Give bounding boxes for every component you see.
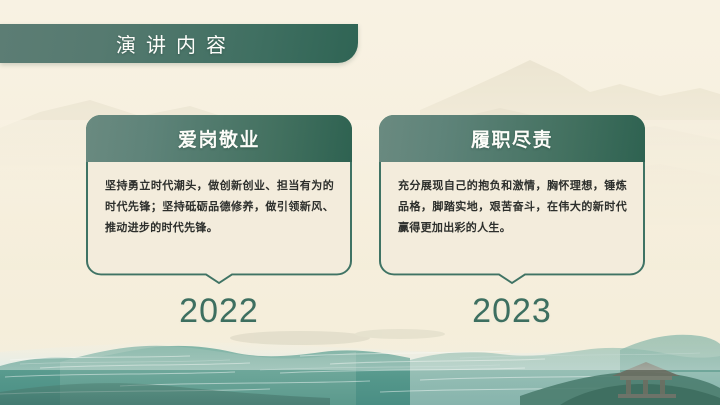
card-title-left: 爱岗敬业: [178, 125, 260, 152]
pavilion-icon: [612, 362, 680, 398]
year-label-left: 2022: [86, 292, 352, 331]
section-title-banner: 演讲内容: [0, 24, 358, 63]
year-label-right: 2023: [379, 292, 645, 331]
card-text-left: 坚持勇立时代潮头，做创新创业、担当有为的时代先锋；坚持砥砺品德修养，做引领新风、…: [105, 176, 334, 239]
water-brush-strokes: [0, 351, 660, 394]
ink-wash-cloud: [230, 329, 445, 345]
page-title: 演讲内容: [106, 29, 236, 58]
card-text-right: 充分展现自己的抱负和激情，胸怀理想，锤炼品格，脚踏实地，艰苦奋斗，在伟大的新时代…: [398, 176, 627, 239]
slide-canvas: 演讲内容 爱岗敬业 坚持勇立时代潮头，做创新创业、担当有为的时代先锋；坚持砥砺品…: [0, 0, 720, 405]
card-header-right: 履职尽责: [379, 115, 645, 162]
content-card-right: 履职尽责 充分展现自己的抱负和激情，胸怀理想，锤炼品格，脚踏实地，艰苦奋斗，在伟…: [379, 115, 645, 283]
card-header-left: 爱岗敬业: [86, 115, 352, 162]
content-card-left: 爱岗敬业 坚持勇立时代潮头，做创新创业、担当有为的时代先锋；坚持砥砺品德修养，做…: [86, 115, 352, 283]
card-title-right: 履职尽责: [471, 125, 553, 152]
card-body-left: 坚持勇立时代潮头，做创新创业、担当有为的时代先锋；坚持砥砺品德修养，做引领新风、…: [86, 162, 352, 283]
lower-landscape: [0, 330, 720, 405]
card-body-right: 充分展现自己的抱负和激情，胸怀理想，锤炼品格，脚踏实地，艰苦奋斗，在伟大的新时代…: [379, 162, 645, 283]
